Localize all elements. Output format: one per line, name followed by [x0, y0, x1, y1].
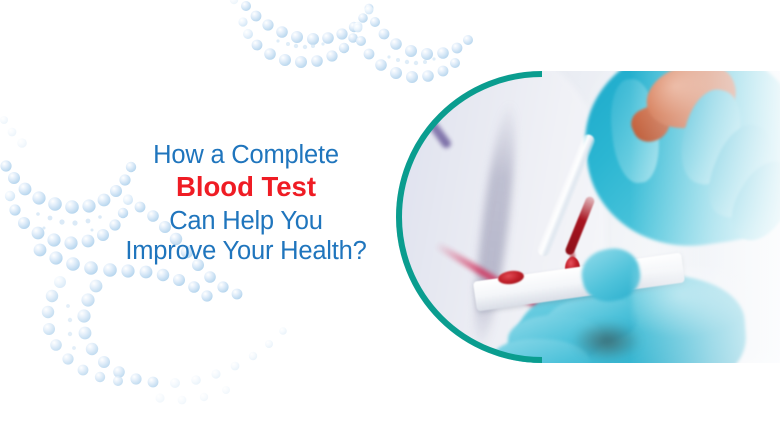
photo-soft-vignette — [630, 71, 780, 363]
headline-block: How a Complete Blood Test Can Help You I… — [96, 140, 396, 266]
blood-test-banner: How a Complete Blood Test Can Help You I… — [0, 0, 780, 439]
hero-photo-panel — [396, 71, 780, 363]
headline-line-1: How a Complete — [96, 140, 396, 170]
headline-line-4: Improve Your Health? — [96, 236, 396, 266]
headline-line-3: Can Help You — [96, 206, 396, 236]
headline-line-2-blood-test: Blood Test — [96, 170, 396, 205]
